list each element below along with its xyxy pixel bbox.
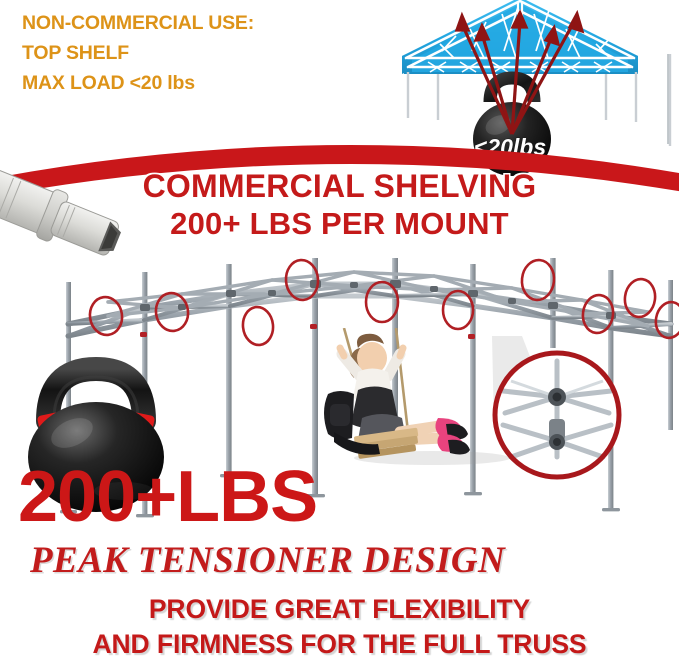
bottom-line-1: PROVIDE GREAT FLEXIBILITY	[0, 592, 679, 627]
banner-line-1: COMMERCIAL SHELVING	[0, 167, 679, 205]
bottom-tagline: PROVIDE GREAT FLEXIBILITY AND FIRMNESS F…	[0, 592, 679, 662]
bottom-line-2: AND FIRMNESS FOR THE FULL TRUSS	[0, 627, 679, 662]
product-infographic: NON-COMMERCIAL USE: TOP SHELF MAX LOAD <…	[0, 0, 679, 667]
load-capacity-headline: 200+LBS	[18, 461, 317, 533]
banner-line-2: 200+ LBS PER MOUNT	[0, 205, 679, 243]
banner-headline: COMMERCIAL SHELVING 200+ LBS PER MOUNT	[0, 167, 679, 243]
peak-tensioner-headline: PEAK TENSIONER DESIGN	[30, 541, 505, 581]
non-commercial-disclaimer: NON-COMMERCIAL USE: TOP SHELF MAX LOAD <…	[22, 8, 362, 98]
peak-tensioner-detail-callout	[487, 345, 632, 485]
child-on-swing	[300, 328, 505, 473]
child-on-swing-icon	[300, 328, 505, 473]
detail-ring-icon	[487, 345, 632, 485]
